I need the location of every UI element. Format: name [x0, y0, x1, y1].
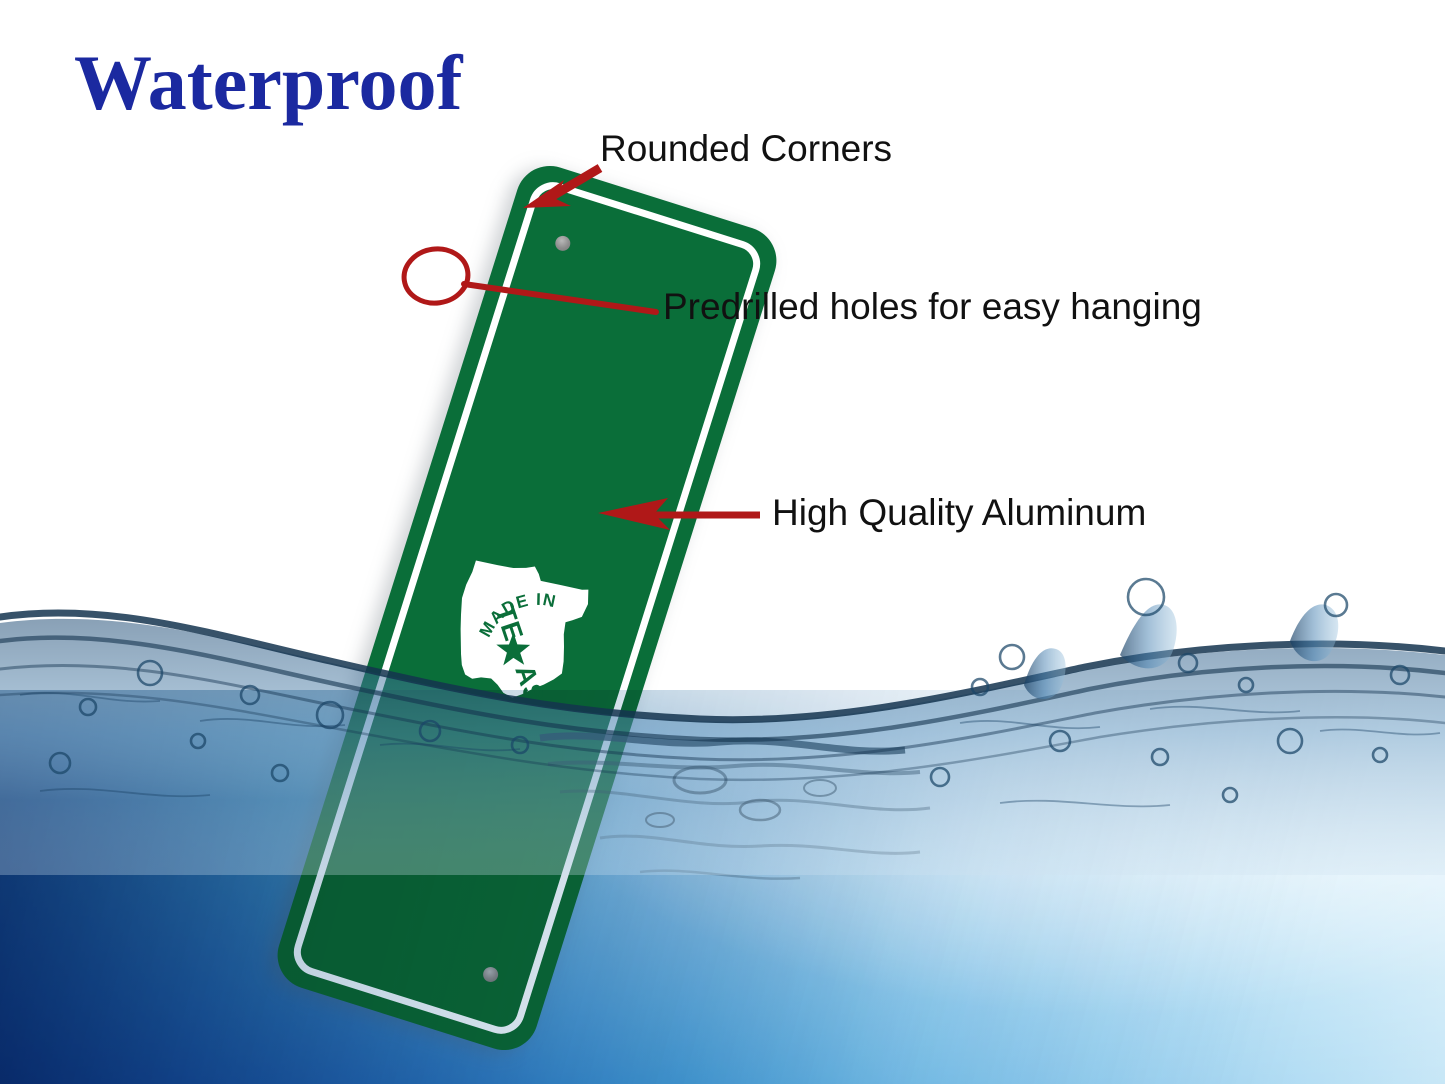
annotation-label-predrilled-holes: Predrilled holes for easy hanging — [663, 288, 1202, 325]
water-surface-splash — [0, 545, 1445, 875]
product-feature-graphic: MADE IN TE AS — [0, 0, 1445, 1084]
page-title: Waterproof — [74, 44, 462, 122]
annotation-label-rounded-corners: Rounded Corners — [600, 130, 892, 167]
annotation-label-high-quality-aluminum: High Quality Aluminum — [772, 494, 1146, 531]
